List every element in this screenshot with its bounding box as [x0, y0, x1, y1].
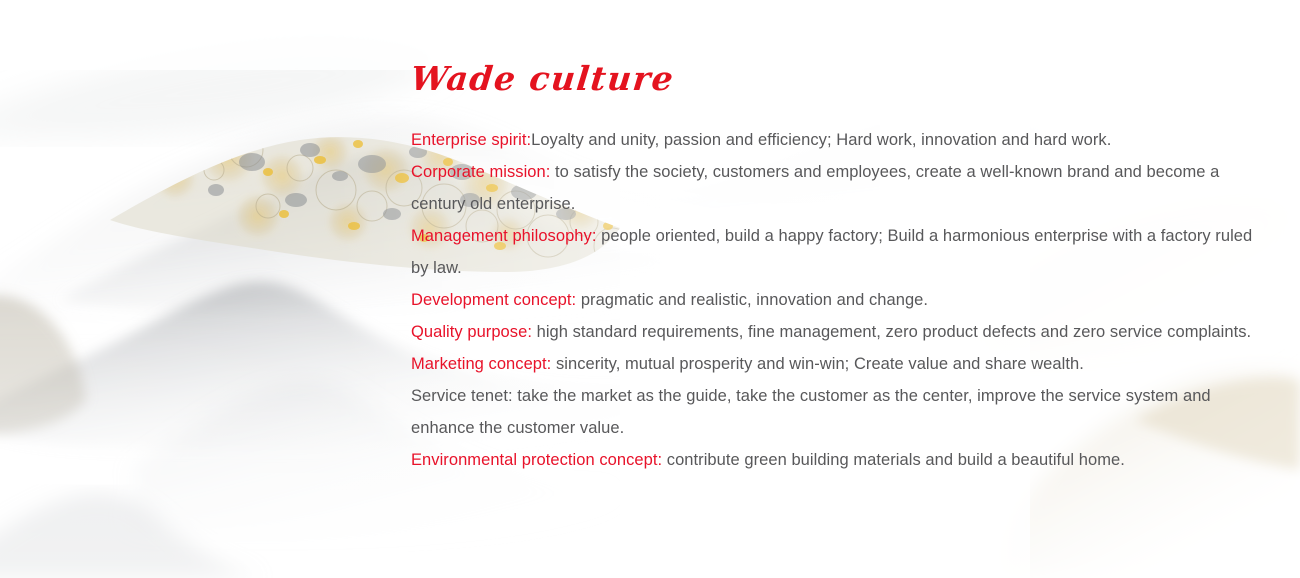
statement-label: Environmental protection concept: — [411, 451, 667, 469]
culture-statement: Marketing concept: sincerity, mutual pro… — [411, 348, 1271, 380]
culture-statement: Enterprise spirit:Loyalty and unity, pas… — [411, 124, 1271, 156]
content-column: Wade culture Enterprise spirit:Loyalty a… — [409, 0, 1279, 578]
culture-page: Wade culture Enterprise spirit:Loyalty a… — [0, 0, 1300, 578]
culture-statement: Development concept: pragmatic and reali… — [411, 284, 1271, 316]
statement-text: pragmatic and realistic, innovation and … — [581, 291, 928, 309]
culture-statements-list: Enterprise spirit:Loyalty and unity, pas… — [411, 124, 1271, 476]
culture-statement: Corporate mission: to satisfy the societ… — [411, 156, 1271, 220]
statement-text: Loyalty and unity, passion and efficienc… — [531, 131, 1111, 149]
statement-text: take the market as the guide, take the c… — [411, 387, 1211, 437]
statement-label: Corporate mission: — [411, 163, 555, 181]
culture-statement: Quality purpose: high standard requireme… — [411, 316, 1271, 348]
culture-statement: Management philosophy: people oriented, … — [411, 220, 1271, 284]
statement-label: Management philosophy: — [411, 227, 601, 245]
statement-label: Quality purpose: — [411, 323, 537, 341]
statement-label: Marketing concept: — [411, 355, 556, 373]
page-title: Wade culture — [409, 62, 676, 95]
culture-statement: Environmental protection concept: contri… — [411, 444, 1271, 476]
statement-text: contribute green building materials and … — [667, 451, 1125, 469]
statement-text: high standard requirements, fine managem… — [537, 323, 1252, 341]
culture-statement: Service tenet: take the market as the gu… — [411, 380, 1271, 444]
statement-label: Development concept: — [411, 291, 581, 309]
statement-label: Enterprise spirit: — [411, 131, 531, 149]
statement-text: sincerity, mutual prosperity and win-win… — [556, 355, 1084, 373]
statement-label: Service tenet: — [411, 387, 517, 405]
